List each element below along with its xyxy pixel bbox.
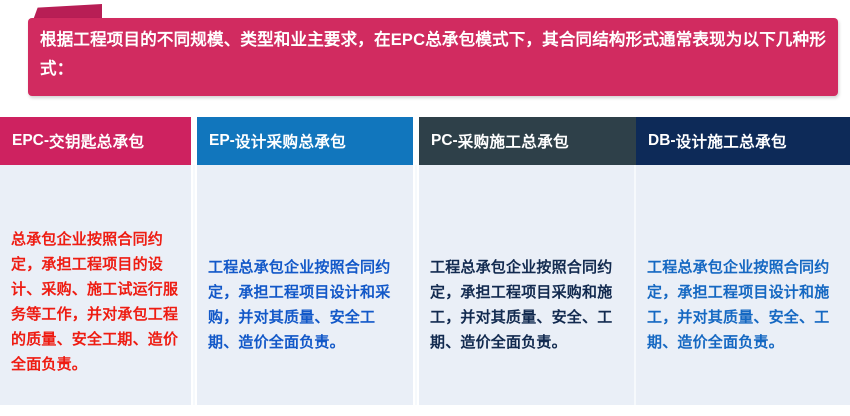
column-epc: EPC- 交钥匙总承包 总承包企业按照合同约定，承担工程项目的设计、采购、施工试…: [0, 117, 191, 405]
column-divider: [634, 165, 636, 405]
column-body-epc: 总承包企业按照合同约定，承担工程项目的设计、采购、施工试运行服务等工作，并对承包…: [0, 165, 191, 405]
column-body-ep: 工程总承包企业按照合同约定，承担工程项目设计和采购，并对其质量、安全工期、造价全…: [197, 165, 413, 405]
column-body-pc: 工程总承包企业按照合同约定，承担工程项目采购和施工，并对其质量、安全、工期、造价…: [419, 165, 636, 405]
column-db: DB- 设计施工总承包 工程总承包企业按照合同约定，承担工程项目设计和施工，并对…: [636, 117, 850, 405]
column-ep: EP- 设计采购总承包 工程总承包企业按照合同约定，承担工程项目设计和采购，并对…: [197, 117, 413, 405]
banner: 根据工程项目的不同规模、类型和业主要求，在EPC总承包模式下，其合同结构形式通常…: [0, 0, 850, 110]
column-header-ep[interactable]: EP- 设计采购总承包: [197, 117, 413, 165]
banner-text: 根据工程项目的不同规模、类型和业主要求，在EPC总承包模式下，其合同结构形式通常…: [40, 26, 830, 84]
column-abbr-db: DB-: [648, 132, 676, 150]
contract-structure-columns: EPC- 交钥匙总承包 总承包企业按照合同约定，承担工程项目的设计、采购、施工试…: [0, 117, 850, 405]
column-divider: [415, 165, 417, 405]
column-abbr-pc: PC-: [431, 132, 458, 150]
column-title-ep: 设计采购总承包: [235, 130, 346, 152]
column-header-db[interactable]: DB- 设计施工总承包: [636, 117, 850, 165]
column-title-epc: 交钥匙总承包: [49, 130, 144, 152]
column-title-db: 设计施工总承包: [676, 130, 787, 152]
column-pc: PC- 采购施工总承包 工程总承包企业按照合同约定，承担工程项目采购和施工，并对…: [419, 117, 636, 405]
column-divider: [193, 165, 195, 405]
column-title-pc: 采购施工总承包: [458, 130, 569, 152]
column-abbr-ep: EP-: [209, 132, 235, 150]
column-abbr-epc: EPC-: [12, 132, 49, 150]
column-header-epc[interactable]: EPC- 交钥匙总承包: [0, 117, 191, 165]
column-header-pc[interactable]: PC- 采购施工总承包: [419, 117, 636, 165]
column-body-db: 工程总承包企业按照合同约定，承担工程项目设计和施工，并对其质量、安全、工期、造价…: [636, 165, 850, 405]
